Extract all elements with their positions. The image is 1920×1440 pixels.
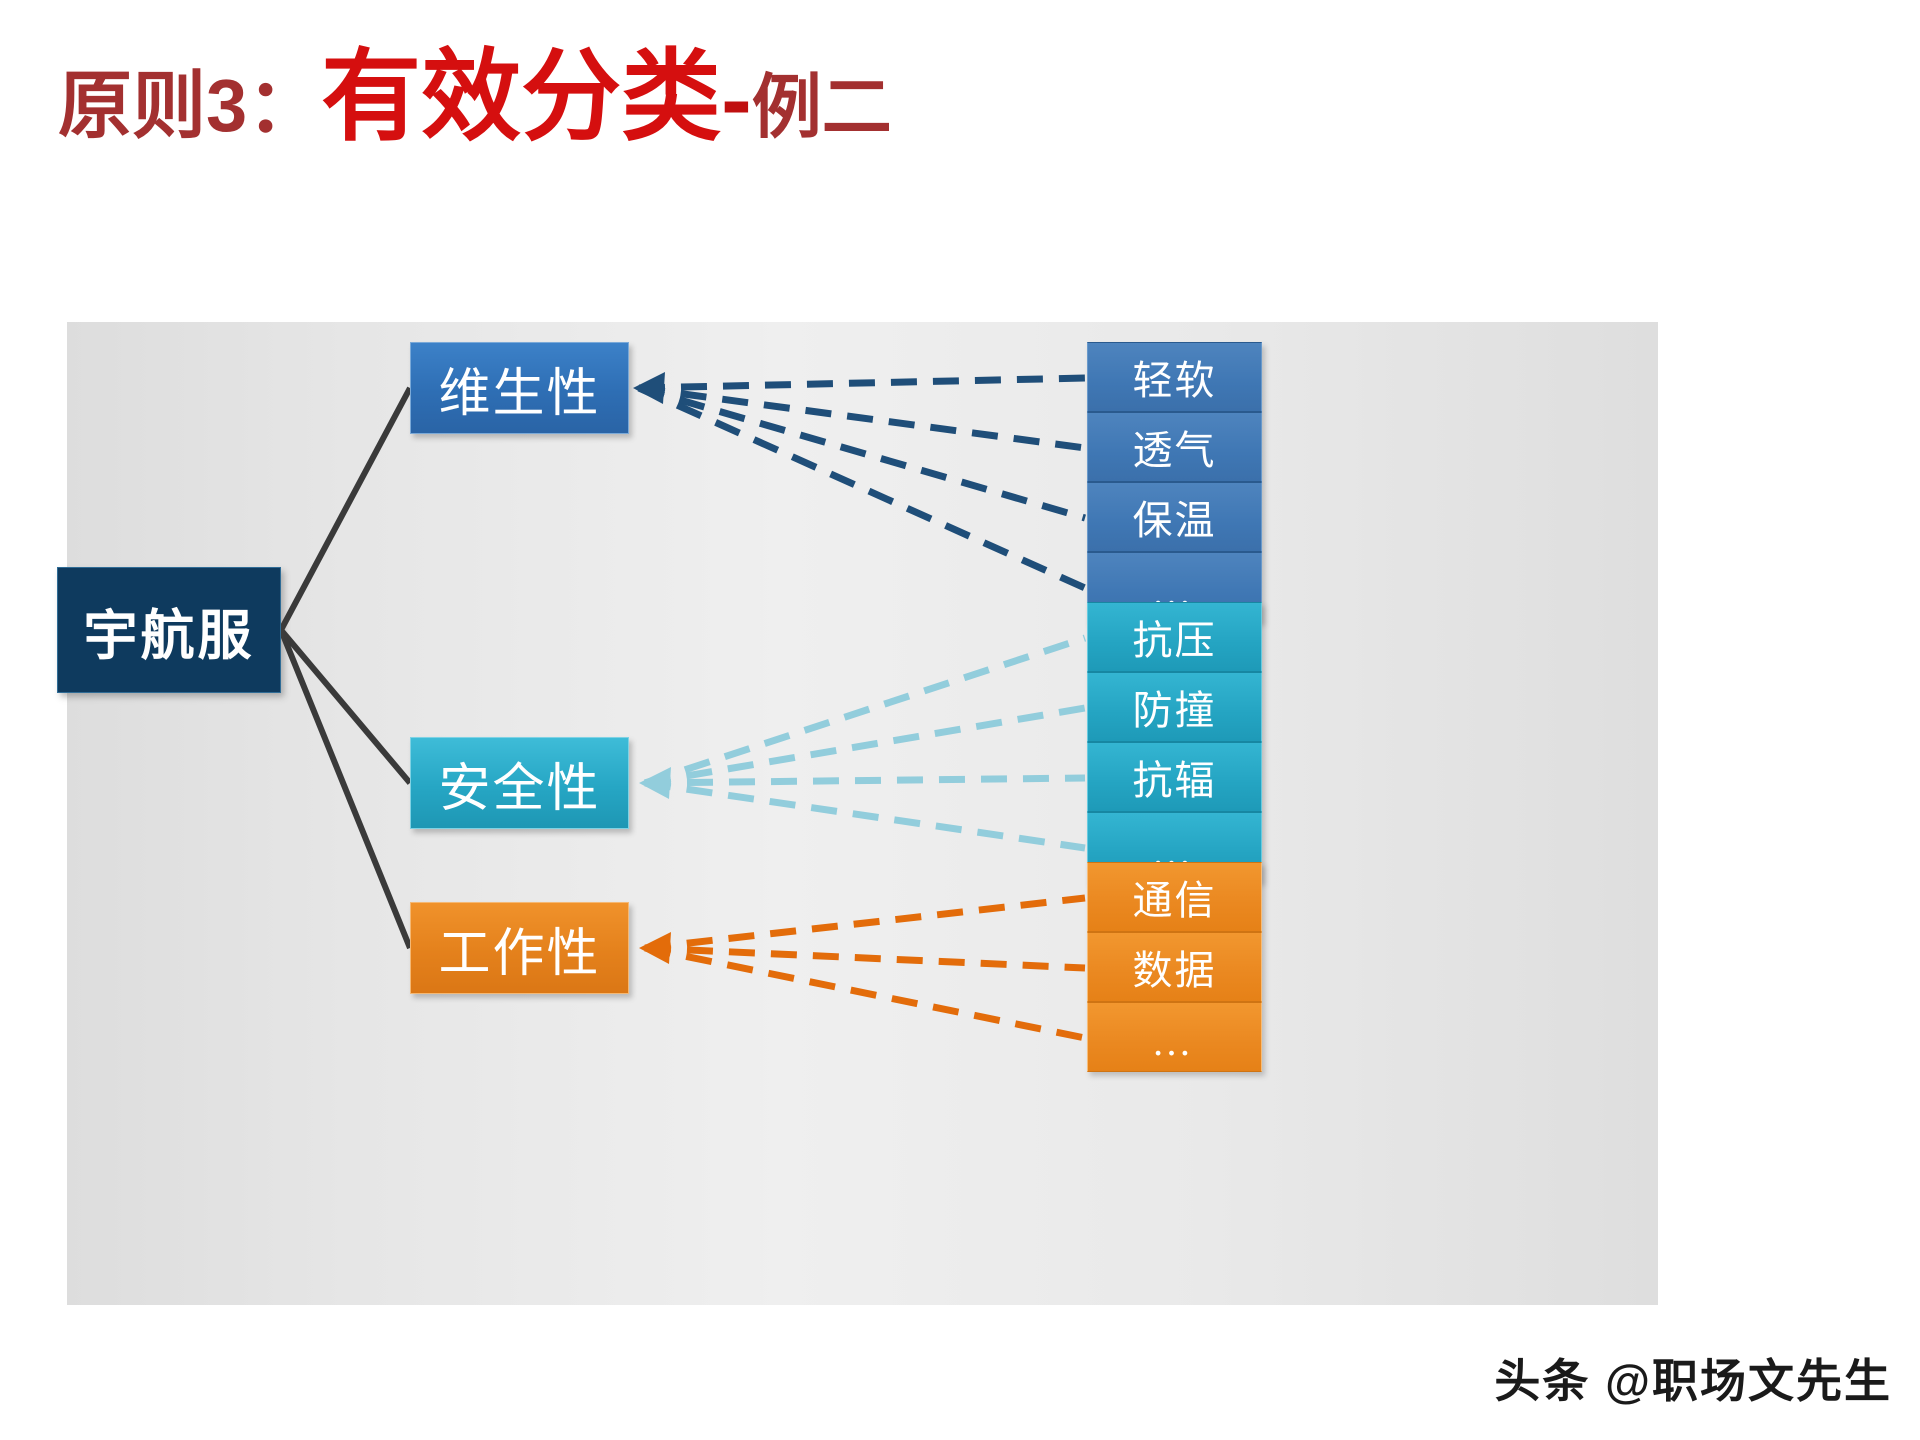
node-category-weishengxing[interactable]: 维生性 bbox=[410, 342, 629, 434]
root-connector-0 bbox=[281, 388, 410, 630]
page-title: 原则3：有效分类-例二 bbox=[58, 48, 892, 148]
fan-line-1-2 bbox=[645, 778, 1085, 783]
node-category-label: 工作性 bbox=[438, 911, 600, 986]
fan-line-0-0 bbox=[639, 378, 1085, 388]
node-category-label: 维生性 bbox=[438, 351, 600, 426]
page-title-dash: - bbox=[721, 49, 752, 151]
attribute-item[interactable]: 通信 bbox=[1087, 862, 1262, 932]
root-connector-2 bbox=[281, 630, 410, 948]
attribute-item[interactable]: 防撞 bbox=[1087, 672, 1262, 742]
attribute-item[interactable]: 透气 bbox=[1087, 412, 1262, 482]
node-category-label: 安全性 bbox=[438, 746, 600, 821]
fan-arrowhead-0 bbox=[633, 372, 665, 404]
attribute-item[interactable]: 抗压 bbox=[1087, 602, 1262, 672]
attribute-item[interactable]: 数据 bbox=[1087, 932, 1262, 1002]
root-connectors bbox=[281, 388, 410, 948]
page-title-suffix: 例二 bbox=[752, 70, 892, 147]
attribute-item[interactable]: 保温 bbox=[1087, 482, 1262, 552]
fan-line-1-1 bbox=[645, 708, 1085, 783]
fan-line-0-2 bbox=[639, 388, 1085, 518]
node-category-anquanxing[interactable]: 安全性 bbox=[410, 737, 629, 829]
connector-layer bbox=[67, 322, 1658, 1305]
fan-line-1-0 bbox=[645, 638, 1085, 783]
fan-line-1-3 bbox=[645, 783, 1085, 848]
node-category-gongzuoxing[interactable]: 工作性 bbox=[410, 902, 629, 994]
attribute-item[interactable]: 轻软 bbox=[1087, 342, 1262, 412]
fan-arrowhead-2 bbox=[639, 932, 671, 964]
diagram-panel: 宇航服 维生性 安全性 工作性 轻软 透气 保温 … 抗压 防撞 抗辐 … 通信… bbox=[67, 322, 1658, 1305]
attribute-group-weishengxing: 轻软 透气 保温 … bbox=[1087, 342, 1262, 622]
fan-lines-group-2 bbox=[645, 898, 1085, 1038]
fan-arrowhead-1 bbox=[639, 767, 671, 799]
fan-line-0-1 bbox=[639, 388, 1085, 448]
root-connector-1 bbox=[281, 630, 410, 783]
fan-line-2-0 bbox=[645, 898, 1085, 948]
fan-lines-group-0 bbox=[639, 378, 1085, 588]
node-root-label: 宇航服 bbox=[84, 591, 255, 670]
watermark: 头条 @职场文先生 bbox=[1494, 1345, 1892, 1411]
node-root[interactable]: 宇航服 bbox=[57, 567, 281, 693]
attribute-item-ellipsis[interactable]: … bbox=[1087, 1002, 1262, 1072]
attribute-item[interactable]: 抗辐 bbox=[1087, 742, 1262, 812]
attribute-group-anquanxing: 抗压 防撞 抗辐 … bbox=[1087, 602, 1262, 882]
page-title-prefix: 原则3： bbox=[58, 64, 321, 147]
attribute-group-gongzuoxing: 通信 数据 … bbox=[1087, 862, 1262, 1072]
page-title-main: 有效分类 bbox=[321, 42, 721, 153]
fan-lines-group-1 bbox=[645, 638, 1085, 848]
